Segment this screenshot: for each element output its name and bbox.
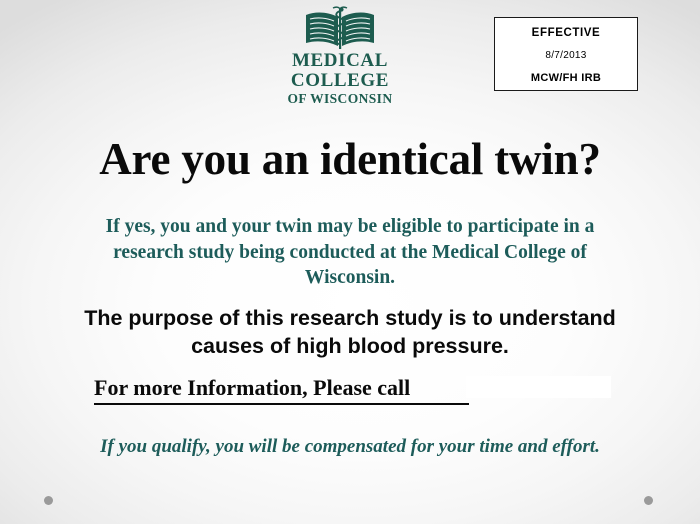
purpose-paragraph: The purpose of this research study is to… — [72, 305, 628, 360]
page-title: Are you an identical twin? — [0, 136, 700, 183]
compensation-note: If you qualify, you will be compensated … — [0, 436, 700, 458]
redacted-phone-number-block — [466, 376, 611, 398]
mcw-logo: MEDICAL COLLEGE OF WISCONSIN — [281, 6, 399, 102]
eligibility-paragraph: If yes, you and your twin may be eligibl… — [78, 214, 622, 291]
decorative-dot-left — [44, 496, 53, 505]
logo-text-college: COLLEGE — [281, 71, 399, 90]
open-book-caduceus-icon — [303, 6, 377, 49]
stamp-effective-date: 8/7/2013 — [495, 50, 637, 61]
poster-slide: MEDICAL COLLEGE OF WISCONSIN EFFECTIVE 8… — [0, 0, 700, 524]
stamp-title: EFFECTIVE — [495, 27, 637, 39]
call-to-action-label: For more Information, Please call — [94, 375, 469, 405]
irb-approval-stamp: EFFECTIVE 8/7/2013 MCW/FH IRB — [494, 17, 638, 91]
stamp-organization: MCW/FH IRB — [495, 72, 637, 84]
logo-text-medical: MEDICAL — [281, 51, 399, 70]
logo-text-of-wisconsin: OF WISCONSIN — [281, 92, 399, 106]
decorative-dot-right — [644, 496, 653, 505]
